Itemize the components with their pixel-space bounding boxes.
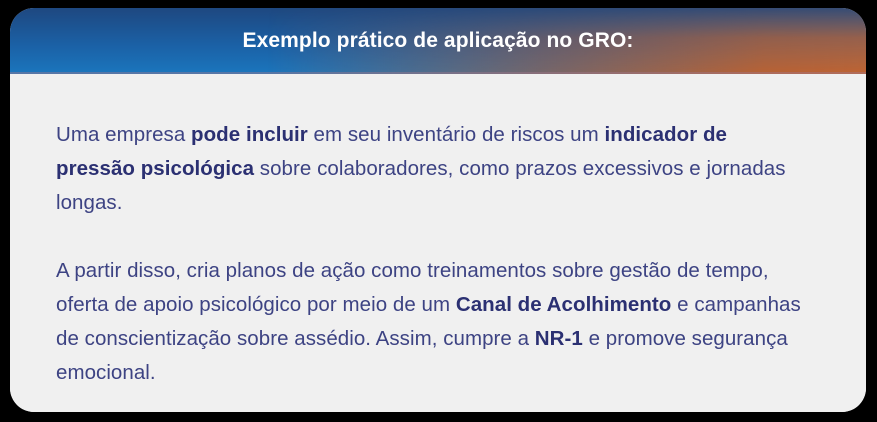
card-body: Uma empresa pode incluir em seu inventár… [10, 74, 866, 412]
body-text: Uma empresa [56, 123, 191, 146]
info-card: Exemplo prático de aplicação no GRO: Uma… [10, 8, 866, 412]
emphasis-text: NR-1 [535, 327, 583, 350]
card-header-banner: Exemplo prático de aplicação no GRO: [10, 8, 866, 74]
emphasis-text: pode incluir [191, 123, 308, 146]
body-paragraph-1: Uma empresa pode incluir em seu inventár… [56, 118, 810, 220]
body-paragraph-2: A partir disso, cria planos de ação como… [56, 254, 810, 390]
card-header-title: Exemplo prático de aplicação no GRO: [242, 29, 633, 53]
body-text: em seu inventário de riscos um [308, 123, 605, 146]
emphasis-text: Canal de Acolhimento [456, 293, 672, 316]
